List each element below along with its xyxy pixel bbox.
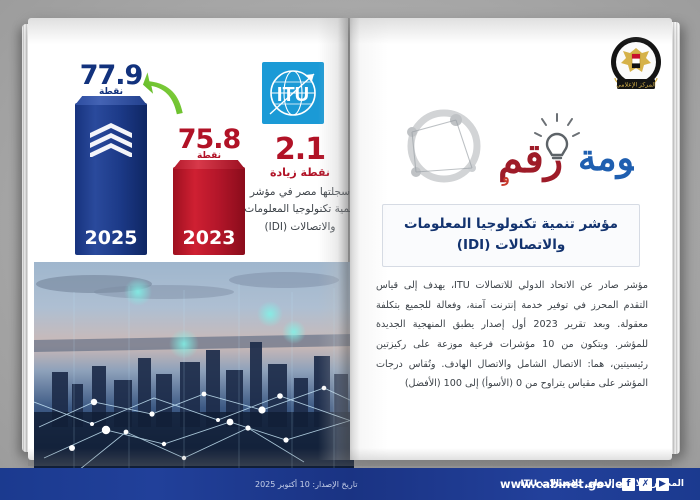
bar-unit-2023: نقطة	[166, 151, 252, 161]
egypt-cabinet-emblem: المركز الإعلامي	[605, 34, 667, 96]
lightbulb-icon	[535, 114, 579, 136]
facebook-icon[interactable]: f	[622, 478, 635, 491]
report-body-text: مؤشر صادر عن الاتحاد الدولي للاتصالات IT…	[376, 276, 648, 394]
open-book: 77.9 نقطة 2025	[22, 8, 680, 466]
bar-year-2023: 2023	[173, 227, 245, 249]
footer-date: تاريخ الإصدار: 10 أكتوبر 2025	[255, 480, 357, 489]
footer-website-link[interactable]: www.cabinet.gov.eg	[500, 477, 631, 491]
itu-logo: ITU	[262, 62, 324, 124]
growth-arrow-icon	[138, 60, 200, 122]
itu-logo-text: ITU	[277, 84, 309, 106]
right-page: المركز الإعلامي	[350, 18, 672, 460]
bar-year-2025: 2025	[75, 227, 147, 249]
emblem-caption: المركز الإعلامي	[616, 82, 656, 89]
chevron-up-icon	[75, 119, 147, 157]
delta-value: 2.1	[252, 132, 348, 167]
infographic-canvas: 77.9 نقطة 2025	[0, 0, 700, 500]
delta-description: سجلتها مصر في مؤشر تنمية تكنولوجيا المعل…	[239, 184, 361, 236]
page-title: مؤشر تنمية تكنولوجيا المعلومات والاتصالا…	[389, 214, 633, 256]
report-title-box: مؤشر تنمية تكنولوجيا المعلومات والاتصالا…	[382, 204, 640, 267]
bar-2025: 2025	[75, 103, 147, 255]
youtube-icon[interactable]: ▶	[656, 478, 669, 491]
footer-bar: المصدر: الاتحاد الدولي للاتصالات ITU تار…	[0, 468, 700, 500]
idi-bar-chart: 77.9 نقطة 2025	[34, 32, 354, 262]
social-links: f ✗ ▶	[622, 478, 669, 491]
smart-city-network-photo	[34, 262, 354, 470]
left-page: 77.9 نقطة 2025	[28, 18, 348, 460]
x-twitter-icon[interactable]: ✗	[639, 478, 652, 491]
brand-word-blue: معلومة	[578, 137, 634, 180]
brand-word-conjunction: و	[501, 169, 509, 186]
maaluma-wa-raqam-logo: معلومة رقم و	[386, 106, 634, 188]
delta-unit: نقطة زيادة	[242, 166, 358, 179]
bar-2023: 2023	[173, 167, 245, 255]
